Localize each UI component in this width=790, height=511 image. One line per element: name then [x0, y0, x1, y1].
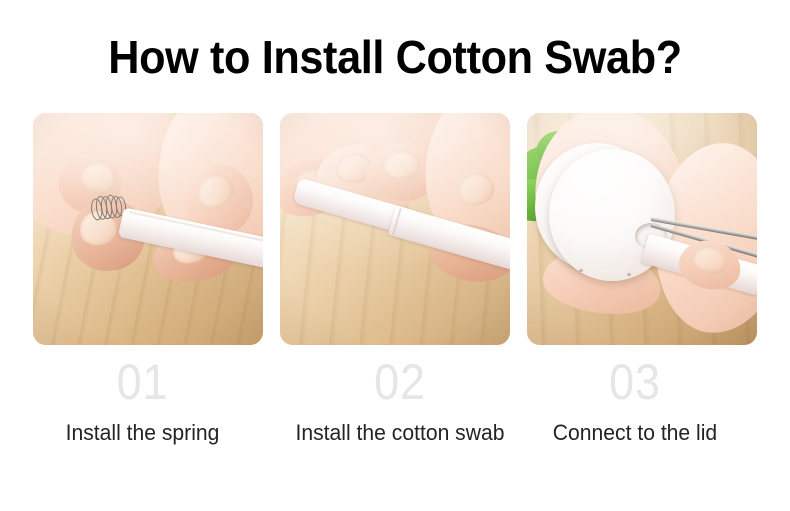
step-number-1: 01 — [14, 355, 271, 409]
step-caption-2: Install the cotton swab — [290, 420, 511, 446]
step-photo-2 — [280, 113, 510, 345]
step-number-2: 02 — [297, 355, 504, 409]
metal-spring — [90, 193, 127, 221]
step-caption-1: Install the spring — [6, 420, 280, 446]
step-block-3: 03 Connect to the lid — [515, 355, 755, 465]
lid-small-hole-1 — [579, 269, 583, 272]
step-block-2: 02 Install the cotton swab — [285, 355, 515, 465]
step-caption-3: Connect to the lid — [520, 420, 750, 446]
step-label-row: 01 Install the spring 02 Install the cot… — [0, 355, 790, 465]
lid-small-hole-2 — [627, 273, 631, 276]
step-photo-3 — [527, 113, 757, 345]
step-number-3: 03 — [527, 355, 743, 409]
page-title: How to Install Cotton Swab? — [24, 31, 767, 83]
step-photo-1 — [33, 113, 263, 345]
instruction-photo-row — [33, 113, 757, 345]
step-block-1: 01 Install the spring — [0, 355, 285, 465]
